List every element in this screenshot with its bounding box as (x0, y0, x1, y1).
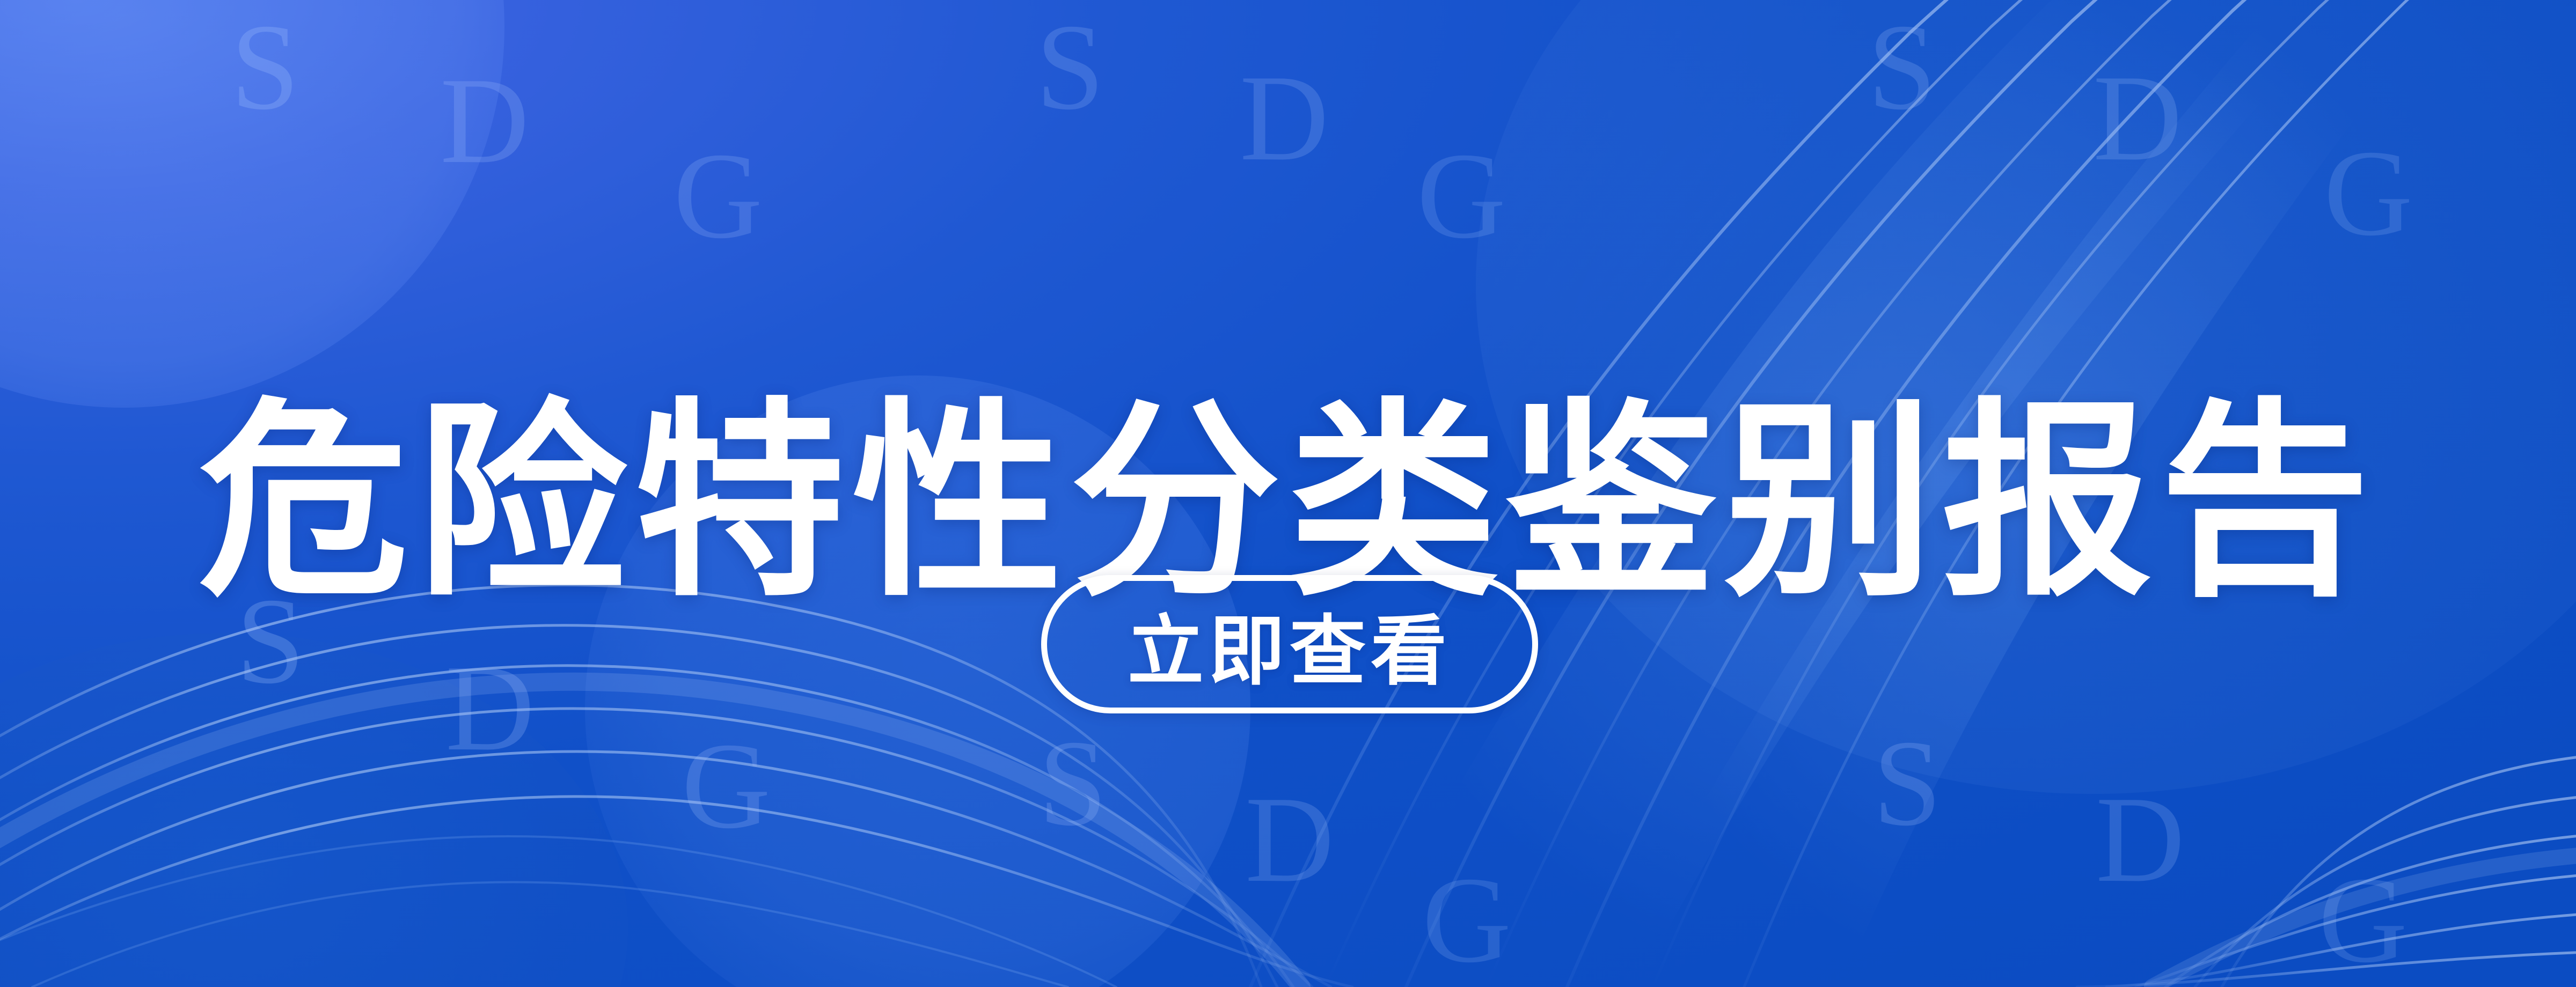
watermark-letter-s: S (1873, 721, 1942, 845)
top-left-circle-glow (0, 0, 504, 408)
watermark-letter-d: D (440, 59, 529, 182)
watermark-letter-d: D (1240, 56, 1329, 180)
watermark-letter-d: D (445, 646, 535, 770)
promo-banner: SDGSDGSDGSDGSDGSDG 危险特性分类鉴别报告 立即查看 (0, 0, 2576, 987)
watermark-letter-s: S (1868, 5, 1936, 129)
watermark-letter-g: G (2324, 131, 2413, 255)
view-now-button-label: 立即查看 (1128, 589, 1452, 699)
watermark-letter-g: G (1417, 134, 1506, 257)
watermark-letter-g: G (1422, 858, 1511, 982)
watermark-letter-g: G (2318, 858, 2407, 982)
bottom-left-shade (0, 633, 628, 987)
watermark-letter-d: D (2093, 56, 2182, 180)
watermark-letter-d: D (1245, 778, 1334, 901)
watermark-letter-g: G (674, 134, 763, 257)
watermark-letter-s: S (1036, 5, 1104, 129)
view-now-button[interactable]: 立即查看 (1041, 575, 1538, 713)
watermark-letter-d: D (2096, 778, 2185, 901)
watermark-letter-g: G (682, 724, 771, 848)
watermark-letter-s: S (1038, 721, 1107, 845)
watermark-letter-s: S (231, 5, 299, 129)
